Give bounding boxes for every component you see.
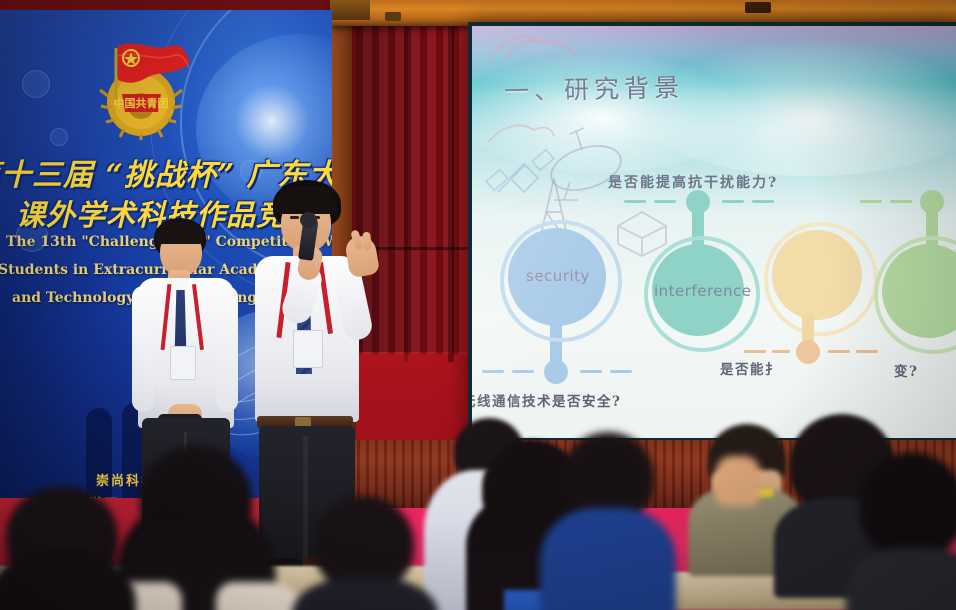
body [540,508,676,610]
head [314,496,414,590]
arm-left [132,286,154,412]
hair-front [275,186,337,214]
curtain-fold [448,22,454,362]
hair [0,548,136,610]
projection-screen: 一、研究背景 是否能提高抗干扰能力? security 无线通信技术是否安全? [472,26,956,438]
body [846,548,956,610]
audience-left-of-center [300,496,430,610]
finger [362,232,372,251]
head [562,432,654,520]
screen-glare [472,26,956,438]
valance-bracket [745,2,771,13]
head [860,452,956,558]
arm-right [216,286,238,412]
curtain-fold [404,22,408,362]
audience-center-right [540,432,670,610]
eye-left [290,216,299,219]
audience-hand-raised [716,456,778,516]
body [292,578,438,610]
hair-front [156,222,204,244]
audience-back-right [860,452,956,610]
svg-text:中国共青团: 中国共青团 [114,96,169,110]
name-badge [170,346,196,380]
valance-end-cap [330,0,370,20]
audience-ponytail-left [0,486,150,610]
banner-bubble [22,70,50,98]
valance-bracket [385,12,401,21]
photo-scene: 一、研究背景 是否能提高抗干扰能力? security 无线通信技术是否安全? [0,0,956,610]
banner-bubble [50,128,68,146]
name-badge [293,330,323,368]
hand [716,456,760,506]
communist-youth-league-emblem: 中国共青团 [86,36,196,140]
